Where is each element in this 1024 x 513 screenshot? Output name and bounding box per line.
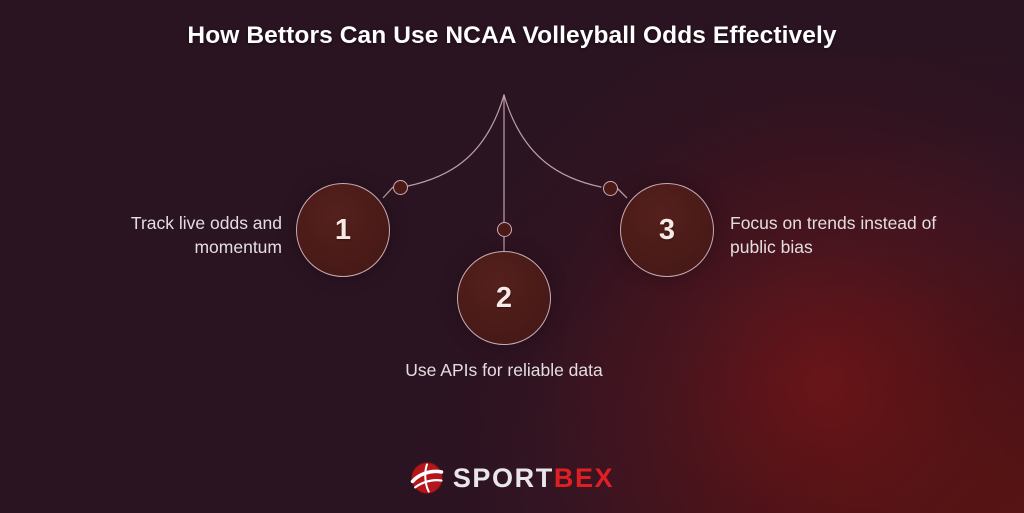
logo-text-bex: BEX bbox=[554, 463, 614, 493]
logo-text-sport: SPORT bbox=[453, 463, 554, 493]
connector-node-2 bbox=[497, 222, 512, 237]
step-circle-3[interactable]: 3 bbox=[620, 183, 714, 277]
connector-curve-left bbox=[408, 95, 504, 186]
page-title: How Bettors Can Use NCAA Volleyball Odds… bbox=[0, 22, 1024, 50]
step-label-1: Track live odds and momentum bbox=[60, 211, 282, 259]
step-label-3: Focus on trends instead of public bias bbox=[730, 211, 960, 259]
step-circle-2[interactable]: 2 bbox=[457, 251, 551, 345]
infographic-canvas: How Bettors Can Use NCAA Volleyball Odds… bbox=[0, 0, 1024, 513]
step-number-1: 1 bbox=[335, 216, 351, 245]
logo-wordmark: SPORTBEX bbox=[453, 465, 614, 492]
step-number-3: 3 bbox=[659, 216, 675, 245]
connector-node-1 bbox=[393, 180, 408, 195]
sportbex-ball-icon bbox=[410, 461, 444, 495]
step-number-2: 2 bbox=[496, 284, 512, 313]
connector-stub-1 bbox=[383, 187, 393, 198]
step-label-2: Use APIs for reliable data bbox=[404, 358, 604, 382]
connector-node-3 bbox=[603, 181, 618, 196]
step-circle-1[interactable]: 1 bbox=[296, 183, 390, 277]
connector-stub-3 bbox=[617, 188, 627, 198]
brand-logo[interactable]: SPORTBEX bbox=[0, 461, 1024, 495]
connector-curve-right bbox=[504, 95, 601, 187]
